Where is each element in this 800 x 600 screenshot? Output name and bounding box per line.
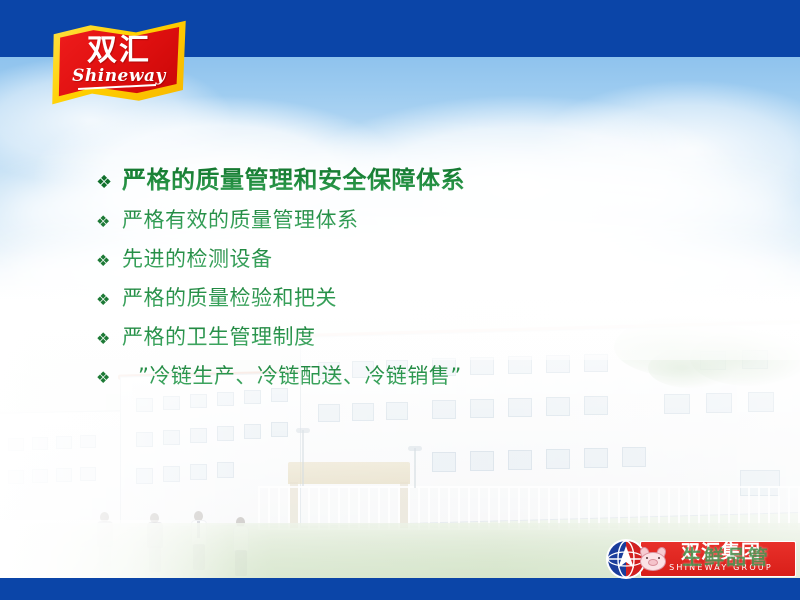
bottom-blue-band xyxy=(0,578,800,600)
bullet-text: 严格的卫生管理制度 xyxy=(122,321,316,351)
bullet-text: ”冷链生产、冷链配送、冷链销售” xyxy=(122,360,462,390)
diamond-bullet-icon: ❖ xyxy=(96,253,122,269)
pig-eye xyxy=(646,557,648,559)
pig-snout xyxy=(648,559,658,566)
diamond-bullet-icon: ❖ xyxy=(96,370,122,386)
bullet-item-2: ❖ 先进的检测设备 xyxy=(96,243,716,282)
bullet-item-5: ❖ ”冷链生产、冷链配送、冷链销售” xyxy=(96,360,716,399)
diamond-bullet-icon: ❖ xyxy=(96,331,122,347)
diamond-bullet-icon: ❖ xyxy=(96,174,122,192)
bullet-text: 严格有效的质量管理体系 xyxy=(122,204,359,234)
bullet-item-1: ❖ 严格有效的质量管理体系 xyxy=(96,204,716,243)
bullet-item-4: ❖ 严格的卫生管理制度 xyxy=(96,321,716,360)
slide-canvas: 双汇 Shineway ❖ 严格的质量管理和安全保障体系 ❖ 严格有效的质量管理… xyxy=(0,0,800,600)
diamond-bullet-icon: ❖ xyxy=(96,214,122,230)
shineway-group-watermark: 双汇集团 SHINEWAY GROUP 生鲜品管 xyxy=(604,538,796,580)
bullet-item-0: ❖ 严格的质量管理和安全保障体系 xyxy=(96,160,716,204)
watermark-overlay-text: 生鲜品管 xyxy=(662,546,790,568)
bullet-item-3: ❖ 严格的质量检验和把关 xyxy=(96,282,716,321)
pig-eye xyxy=(658,557,660,559)
diamond-bullet-icon: ❖ xyxy=(96,292,122,308)
logo-chinese-name: 双汇 xyxy=(48,36,190,66)
bullet-list: ❖ 严格的质量管理和安全保障体系 ❖ 严格有效的质量管理体系 ❖ 先进的检测设备… xyxy=(96,160,716,399)
logo-english-name: Shineway xyxy=(48,68,190,85)
bullet-text: 严格的质量管理和安全保障体系 xyxy=(122,160,465,195)
pig-face-icon xyxy=(638,546,668,572)
bullet-text: 严格的质量检验和把关 xyxy=(122,282,337,312)
shineway-flag-logo: 双汇 Shineway xyxy=(48,18,190,108)
bullet-text: 先进的检测设备 xyxy=(122,243,273,273)
